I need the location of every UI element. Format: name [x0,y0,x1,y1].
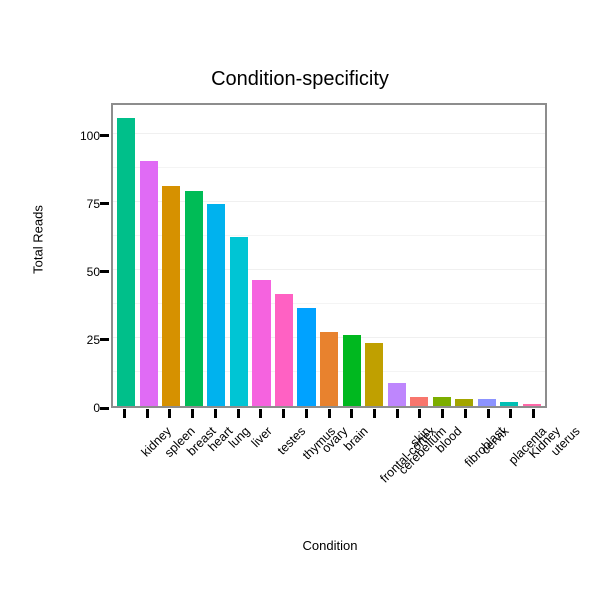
x-tick-mark [487,409,490,418]
x-tick-mark [237,409,240,418]
bar [185,191,203,406]
y-tick-label: 25 [60,333,100,347]
x-tick-mark [441,409,444,418]
x-tick-mark [328,409,331,418]
x-tick-mark [396,409,399,418]
bar [275,294,293,406]
x-tick-mark [168,409,171,418]
bar [320,332,338,406]
bar [117,118,135,406]
bar [207,204,225,406]
y-tick: 25 [50,333,100,347]
x-tick-mark [532,409,535,418]
y-tick: 75 [50,197,100,211]
bar [252,280,270,406]
y-tick-mark [100,202,109,205]
x-tick-mark [418,409,421,418]
x-tick-mark [146,409,149,418]
bar [343,335,361,406]
x-tick-mark [191,409,194,418]
x-tick-mark [259,409,262,418]
y-tick-mark [100,134,109,137]
bar [500,402,518,406]
bar [523,404,541,406]
y-tick-mark [100,338,109,341]
bar-series [113,105,545,406]
bar [455,399,473,406]
bar [230,237,248,406]
bar [478,399,496,406]
bar [365,343,383,406]
y-tick: 100 [50,129,100,143]
chart-figure: Condition-specificity Total Reads 025507… [0,0,600,600]
x-tick-mark [123,409,126,418]
y-tick-mark [100,407,109,410]
x-tick-mark [509,409,512,418]
x-tick-mark [350,409,353,418]
chart-title: Condition-specificity [0,68,600,91]
x-tick-mark [373,409,376,418]
y-tick-label: 75 [60,197,100,211]
bar [162,186,180,406]
plot-panel [111,103,547,408]
x-tick-mark [464,409,467,418]
x-tick-mark [282,409,285,418]
y-tick-label: 0 [60,401,100,415]
y-tick: 0 [50,401,100,415]
bar [297,308,315,406]
y-tick-mark [100,270,109,273]
y-tick-label: 100 [60,129,100,143]
x-tick-mark [214,409,217,418]
y-tick-label: 50 [60,265,100,279]
x-tick-mark [305,409,308,418]
bar [140,161,158,406]
y-axis-title: Total Reads [31,180,46,300]
bar [410,397,428,406]
x-axis-title: Condition [110,538,550,553]
bar [433,397,451,406]
plot-area [113,105,545,406]
x-tick-label: cervix [479,424,512,457]
bar [388,383,406,406]
x-tick-label: liver [249,424,275,450]
y-tick: 50 [50,265,100,279]
